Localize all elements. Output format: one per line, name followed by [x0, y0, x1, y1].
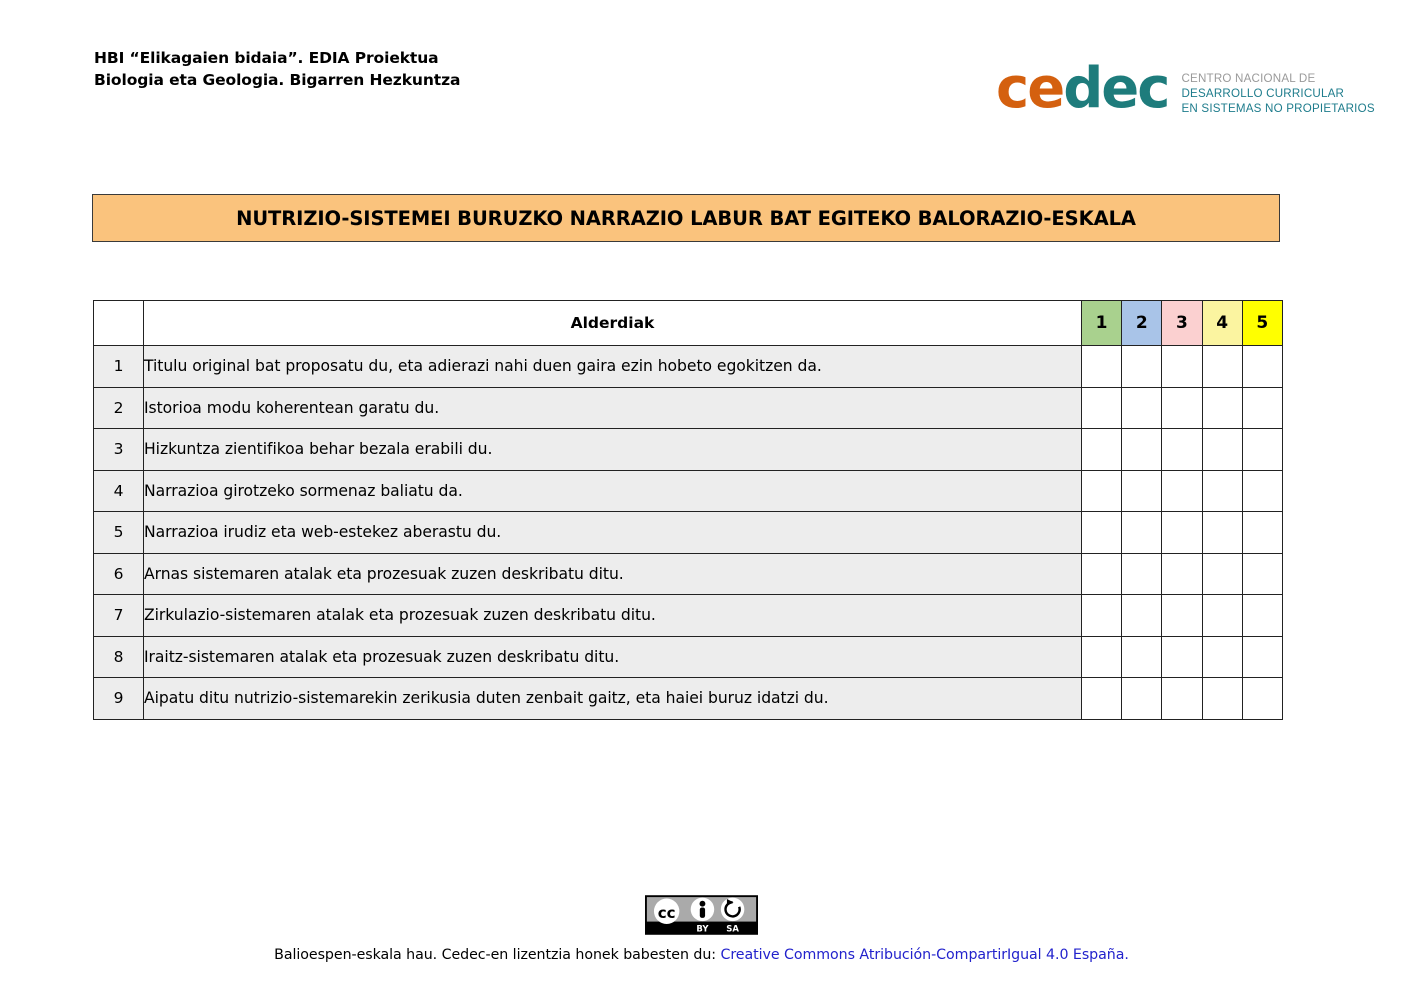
score-checkbox-4[interactable]	[1202, 429, 1242, 471]
evaluation-scale-table: Alderdiak 1 2 3 4 5 1 Titulu original ba…	[93, 300, 1283, 720]
header-aspect-column: Alderdiak	[144, 301, 1082, 346]
score-checkbox-5[interactable]	[1242, 636, 1282, 678]
header-score-3: 3	[1162, 301, 1202, 346]
table-head: Alderdiak 1 2 3 4 5	[94, 301, 1283, 346]
score-checkbox-3[interactable]	[1162, 512, 1202, 554]
table-row: 3 Hizkuntza zientifikoa behar bezala era…	[94, 429, 1283, 471]
score-checkbox-1[interactable]	[1082, 678, 1122, 720]
cedec-logo: cedec CENTRO NACIONAL DE DESARROLLO CURR…	[996, 60, 1375, 116]
row-number: 9	[94, 678, 144, 720]
header-number-column	[94, 301, 144, 346]
score-checkbox-4[interactable]	[1202, 387, 1242, 429]
badge-label-by: BY	[696, 923, 709, 933]
score-checkbox-3[interactable]	[1162, 346, 1202, 388]
score-checkbox-4[interactable]	[1202, 636, 1242, 678]
row-criterion-text: Titulu original bat proposatu du, eta ad…	[144, 346, 1082, 388]
cedec-tagline-line-3: EN SISTEMAS NO PROPIETARIOS	[1181, 101, 1374, 116]
score-checkbox-4[interactable]	[1202, 553, 1242, 595]
badge-label-sa: SA	[726, 923, 739, 933]
rubric-title-text: NUTRIZIO-SISTEMEI BURUZKO NARRAZIO LABUR…	[236, 207, 1136, 230]
score-checkbox-2[interactable]	[1122, 387, 1162, 429]
table-row: 1 Titulu original bat proposatu du, eta …	[94, 346, 1283, 388]
score-checkbox-1[interactable]	[1082, 346, 1122, 388]
score-checkbox-2[interactable]	[1122, 678, 1162, 720]
table-row: 5 Narrazioa irudiz eta web-estekez abera…	[94, 512, 1283, 554]
license-statement: Balioespen-eskala hau. Cedec-en lizentzi…	[0, 947, 1403, 963]
cedec-tagline-line-2: DESARROLLO CURRICULAR	[1181, 86, 1374, 101]
row-number: 4	[94, 470, 144, 512]
score-checkbox-5[interactable]	[1242, 470, 1282, 512]
cedec-logo-ce: ce	[996, 56, 1063, 121]
document-heading: HBI “Elikagaien bidaia”. EDIA Proiektua …	[94, 47, 460, 91]
row-criterion-text: Zirkulazio-sistemaren atalak eta prozesu…	[144, 595, 1082, 637]
score-checkbox-2[interactable]	[1122, 429, 1162, 471]
score-checkbox-5[interactable]	[1242, 387, 1282, 429]
score-checkbox-5[interactable]	[1242, 553, 1282, 595]
header-score-4: 4	[1202, 301, 1242, 346]
cedec-tagline-line-1: CENTRO NACIONAL DE	[1181, 71, 1374, 86]
row-criterion-text: Istorioa modu koherentean garatu du.	[144, 387, 1082, 429]
header-score-1: 1	[1082, 301, 1122, 346]
score-checkbox-5[interactable]	[1242, 429, 1282, 471]
score-checkbox-2[interactable]	[1122, 512, 1162, 554]
score-checkbox-3[interactable]	[1162, 553, 1202, 595]
score-checkbox-3[interactable]	[1162, 595, 1202, 637]
cedec-logo-wordmark: cedec	[996, 62, 1168, 115]
score-checkbox-1[interactable]	[1082, 595, 1122, 637]
score-checkbox-4[interactable]	[1202, 512, 1242, 554]
row-criterion-text: Aipatu ditu nutrizio-sistemarekin zeriku…	[144, 678, 1082, 720]
score-checkbox-1[interactable]	[1082, 512, 1122, 554]
score-checkbox-2[interactable]	[1122, 346, 1162, 388]
score-checkbox-4[interactable]	[1202, 595, 1242, 637]
page-footer: cc BY SA Balioespen-eskala hau. Cedec-en…	[0, 895, 1403, 963]
table-row: 9 Aipatu ditu nutrizio-sistemarekin zeri…	[94, 678, 1283, 720]
document-heading-line-1: HBI “Elikagaien bidaia”. EDIA Proiektua	[94, 47, 460, 69]
row-criterion-text: Narrazioa girotzeko sormenaz baliatu da.	[144, 470, 1082, 512]
score-checkbox-3[interactable]	[1162, 678, 1202, 720]
license-link[interactable]: Creative Commons Atribución-CompartirIgu…	[720, 947, 1128, 963]
row-number: 5	[94, 512, 144, 554]
score-checkbox-1[interactable]	[1082, 387, 1122, 429]
row-criterion-text: Hizkuntza zientifikoa behar bezala erabi…	[144, 429, 1082, 471]
score-checkbox-1[interactable]	[1082, 636, 1122, 678]
row-number: 7	[94, 595, 144, 637]
score-checkbox-3[interactable]	[1162, 429, 1202, 471]
table-row: 8 Iraitz-sistemaren atalak eta prozesuak…	[94, 636, 1283, 678]
row-number: 6	[94, 553, 144, 595]
row-number: 1	[94, 346, 144, 388]
score-checkbox-1[interactable]	[1082, 470, 1122, 512]
score-checkbox-4[interactable]	[1202, 678, 1242, 720]
document-heading-line-2: Biologia eta Geologia. Bigarren Hezkuntz…	[94, 69, 460, 91]
cedec-logo-tagline: CENTRO NACIONAL DE DESARROLLO CURRICULAR…	[1181, 71, 1374, 116]
table-row: 7 Zirkulazio-sistemaren atalak eta proze…	[94, 595, 1283, 637]
table-row: 2 Istorioa modu koherentean garatu du.	[94, 387, 1283, 429]
score-checkbox-2[interactable]	[1122, 636, 1162, 678]
table-body: 1 Titulu original bat proposatu du, eta …	[94, 346, 1283, 720]
row-criterion-text: Arnas sistemaren atalak eta prozesuak zu…	[144, 553, 1082, 595]
cedec-logo-dec: dec	[1063, 56, 1168, 121]
row-number: 3	[94, 429, 144, 471]
score-checkbox-1[interactable]	[1082, 429, 1122, 471]
score-checkbox-4[interactable]	[1202, 470, 1242, 512]
row-number: 8	[94, 636, 144, 678]
score-checkbox-5[interactable]	[1242, 678, 1282, 720]
header-score-5: 5	[1242, 301, 1282, 346]
score-checkbox-4[interactable]	[1202, 346, 1242, 388]
rubric-title-banner: NUTRIZIO-SISTEMEI BURUZKO NARRAZIO LABUR…	[92, 194, 1280, 242]
score-checkbox-5[interactable]	[1242, 595, 1282, 637]
header-score-2: 2	[1122, 301, 1162, 346]
score-checkbox-3[interactable]	[1162, 387, 1202, 429]
license-statement-prefix: Balioespen-eskala hau. Cedec-en lizentzi…	[274, 947, 720, 963]
row-number: 2	[94, 387, 144, 429]
score-checkbox-2[interactable]	[1122, 595, 1162, 637]
page-header: HBI “Elikagaien bidaia”. EDIA Proiektua …	[0, 0, 1403, 150]
score-checkbox-3[interactable]	[1162, 636, 1202, 678]
row-criterion-text: Narrazioa irudiz eta web-estekez aberast…	[144, 512, 1082, 554]
table-row: 6 Arnas sistemaren atalak eta prozesuak …	[94, 553, 1283, 595]
svg-text:cc: cc	[658, 904, 676, 922]
table-row: 4 Narrazioa girotzeko sormenaz baliatu d…	[94, 470, 1283, 512]
score-checkbox-5[interactable]	[1242, 512, 1282, 554]
row-criterion-text: Iraitz-sistemaren atalak eta prozesuak z…	[144, 636, 1082, 678]
creative-commons-by-sa-icon[interactable]: cc BY SA	[645, 895, 758, 935]
score-checkbox-1[interactable]	[1082, 553, 1122, 595]
table-header-row: Alderdiak 1 2 3 4 5	[94, 301, 1283, 346]
score-checkbox-2[interactable]	[1122, 470, 1162, 512]
score-checkbox-5[interactable]	[1242, 346, 1282, 388]
score-checkbox-2[interactable]	[1122, 553, 1162, 595]
score-checkbox-3[interactable]	[1162, 470, 1202, 512]
